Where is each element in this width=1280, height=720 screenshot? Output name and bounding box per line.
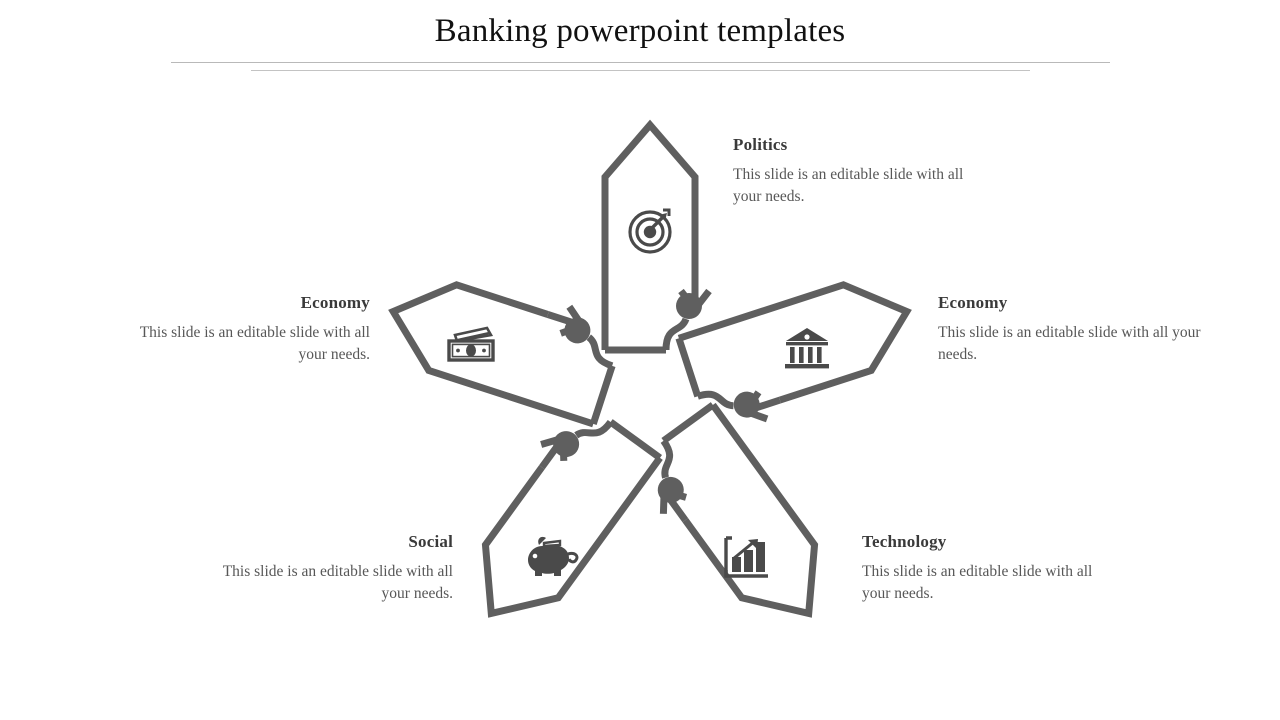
callout-economy-left-heading: Economy	[118, 292, 370, 314]
piggy-bank-icon	[528, 537, 577, 576]
petal-social[interactable]	[444, 397, 660, 640]
callout-economy-right-body: This slide is an editable slide with all…	[938, 322, 1206, 366]
title-block: Banking powerpoint templates	[0, 8, 1280, 54]
growth-bar-chart-icon	[726, 538, 768, 576]
petal-social-outline	[444, 397, 660, 640]
slide-canvas: Banking powerpoint templates	[0, 0, 1280, 720]
callout-politics-body: This slide is an editable slide with all…	[733, 164, 995, 208]
bank-building-icon	[785, 328, 829, 368]
callout-economy-right: Economy This slide is an editable slide …	[938, 292, 1206, 366]
target-dart-icon	[630, 210, 670, 252]
petal-politics-outline	[605, 125, 709, 350]
petal-politics[interactable]	[605, 125, 709, 350]
callout-economy-right-heading: Economy	[938, 292, 1206, 314]
callout-technology-body: This slide is an editable slide with all…	[862, 561, 1112, 605]
petal-technology[interactable]	[629, 405, 845, 648]
title-divider-bottom	[251, 70, 1030, 71]
callout-technology-heading: Technology	[862, 531, 1112, 553]
petal-technology-outline	[629, 405, 845, 648]
callout-social-body: This slide is an editable slide with all…	[203, 561, 453, 605]
callout-technology: Technology This slide is an editable sli…	[862, 531, 1112, 605]
petal-economy-left[interactable]	[379, 255, 625, 423]
title-divider-top	[171, 62, 1110, 63]
callout-economy-left-body: This slide is an editable slide with all…	[118, 322, 370, 366]
callout-social-heading: Social	[203, 531, 453, 553]
callout-politics: Politics This slide is an editable slide…	[733, 134, 995, 208]
petal-economy-left-outline	[379, 255, 625, 423]
callout-economy-left: Economy This slide is an editable slide …	[118, 292, 370, 366]
banknotes-cash-icon	[449, 328, 493, 360]
callout-social: Social This slide is an editable slide w…	[203, 531, 453, 605]
callout-politics-heading: Politics	[733, 134, 995, 156]
page-title: Banking powerpoint templates	[0, 8, 1280, 54]
